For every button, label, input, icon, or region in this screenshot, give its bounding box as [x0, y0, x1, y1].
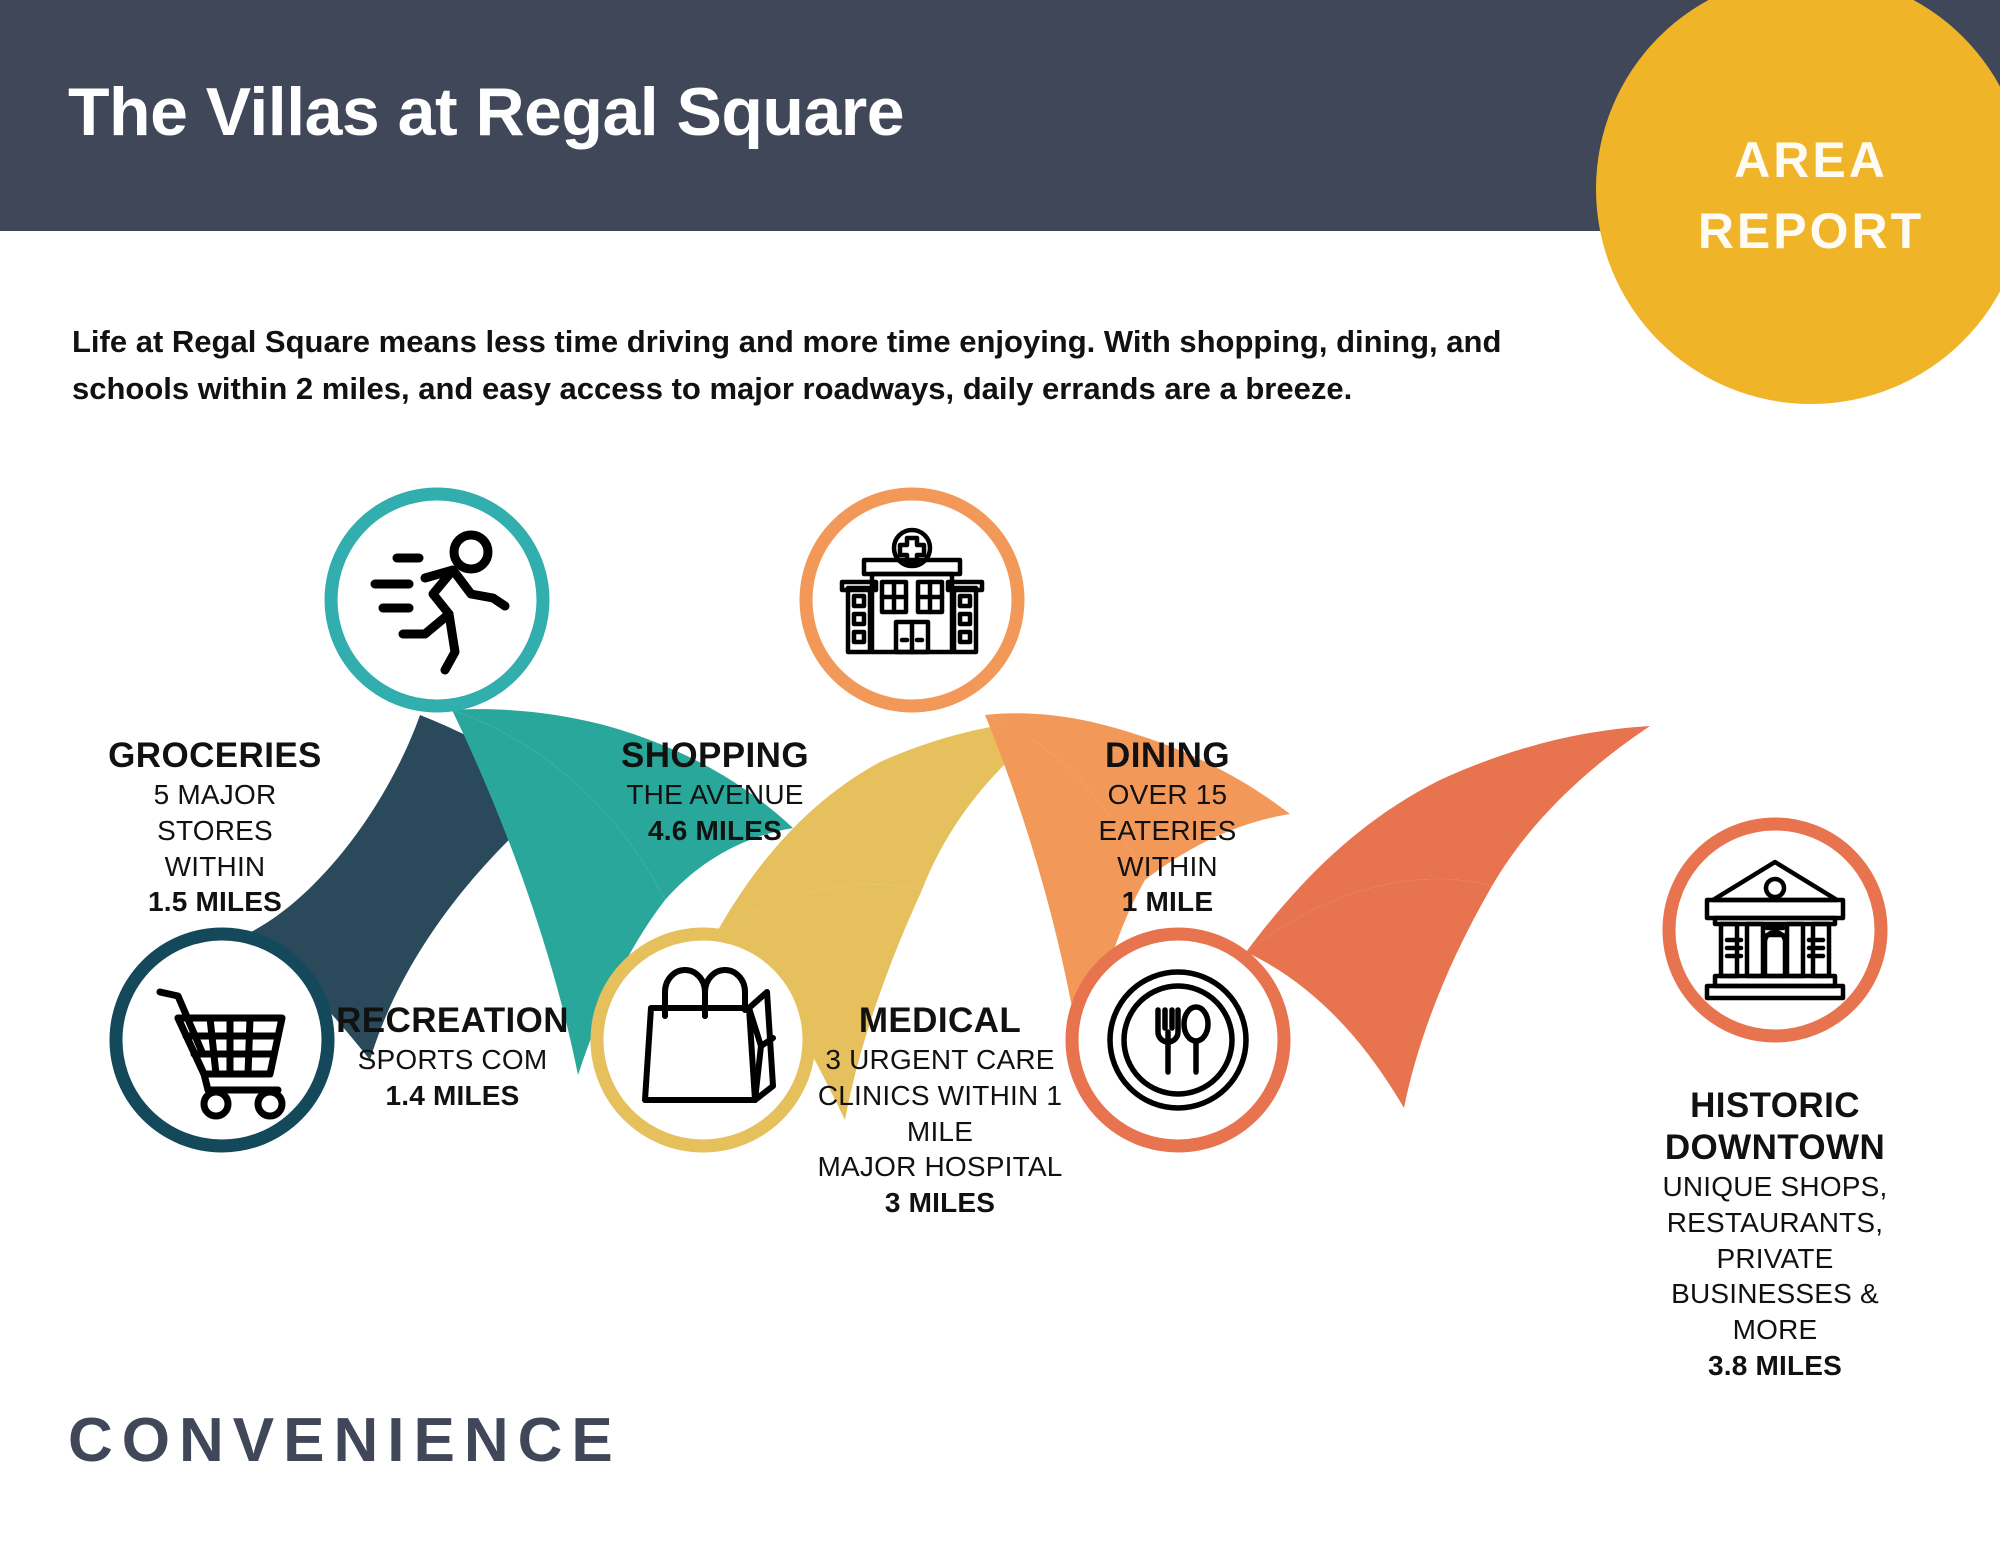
dining-sub1: OVER 15 EATERIES [1040, 777, 1295, 849]
item-recreation: RECREATION SPORTS COM 1.4 MILES [335, 1000, 570, 1114]
shopping-distance: 4.6 MILES [590, 813, 840, 849]
shopping-sub1: THE AVENUE [590, 777, 840, 813]
medical-sub1: 3 URGENT CARE [795, 1042, 1085, 1078]
dining-sub2: WITHIN [1040, 849, 1295, 885]
groceries-sub2: WITHIN [100, 849, 330, 885]
medical-sub3: MAJOR HOSPITAL [795, 1149, 1085, 1185]
medical-sub2: CLINICS WITHIN 1 MILE [795, 1078, 1085, 1150]
dining-distance: 1 MILE [1040, 884, 1295, 920]
connector-dining-historic [1246, 726, 1650, 1108]
item-medical: MEDICAL 3 URGENT CARE CLINICS WITHIN 1 M… [795, 1000, 1085, 1221]
groceries-sub1: 5 MAJOR STORES [100, 777, 330, 849]
circle-dining [1072, 934, 1284, 1146]
medical-title: MEDICAL [795, 1000, 1085, 1042]
medical-distance: 3 MILES [795, 1185, 1085, 1221]
groceries-title: GROCERIES [100, 735, 330, 777]
recreation-sub1: SPORTS COM [335, 1042, 570, 1078]
recreation-title: RECREATION [335, 1000, 570, 1042]
historic-title-line-1: HISTORIC [1630, 1085, 1920, 1127]
item-dining: DINING OVER 15 EATERIES WITHIN 1 MILE [1040, 735, 1295, 920]
historic-distance: 3.8 MILES [1630, 1348, 1920, 1384]
item-groceries: GROCERIES 5 MAJOR STORES WITHIN 1.5 MILE… [100, 735, 330, 920]
historic-sub2: RESTAURANTS, [1630, 1205, 1920, 1241]
historic-sub3: PRIVATE BUSINESSES & [1630, 1241, 1920, 1313]
dining-title: DINING [1040, 735, 1295, 777]
item-historic-downtown: HISTORIC DOWNTOWN UNIQUE SHOPS, RESTAURA… [1630, 1085, 1920, 1384]
shopping-title: SHOPPING [590, 735, 840, 777]
groceries-distance: 1.5 MILES [100, 884, 330, 920]
circle-medical [806, 494, 1018, 706]
historic-title-line-2: DOWNTOWN [1630, 1127, 1920, 1169]
footer-label: CONVENIENCE [68, 1410, 622, 1472]
historic-sub4: MORE [1630, 1312, 1920, 1348]
item-shopping: SHOPPING THE AVENUE 4.6 MILES [590, 735, 840, 849]
circle-shopping [597, 934, 809, 1146]
recreation-distance: 1.4 MILES [335, 1078, 570, 1114]
historic-sub1: UNIQUE SHOPS, [1630, 1169, 1920, 1205]
